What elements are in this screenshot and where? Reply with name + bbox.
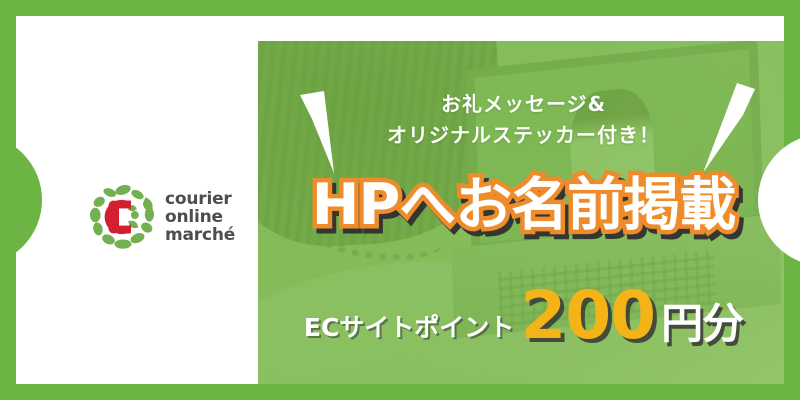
promo-headline: HPへお名前掲載 — [258, 177, 784, 234]
logo-line-online: online — [165, 208, 235, 226]
promo-price-row: ECサイトポイント 200 円分 — [258, 285, 784, 351]
brand-logo[interactable]: courier online marché — [90, 179, 240, 255]
promo-price-unit: 円分 — [661, 290, 743, 351]
promo-price-label: ECサイトポイント — [304, 308, 514, 344]
logo-line-marche: marché — [165, 226, 235, 244]
promo-sub-copy: お礼メッセージ& オリジナルステッカー付き！ — [258, 89, 784, 151]
promo-ticket-card: courier online marché — [0, 0, 800, 400]
courier-online-marche-logo-icon — [90, 184, 156, 250]
promo-sub-copy-line-1: お礼メッセージ& — [441, 92, 606, 116]
promo-sub-copy-line-2: オリジナルステッカー付き！ — [258, 120, 784, 151]
logo-line-courier: courier — [165, 190, 235, 208]
ticket-inner-body: courier online marché — [16, 16, 784, 384]
brand-logo-wordmark: courier online marché — [165, 190, 235, 244]
promo-price-amount: 200 — [520, 285, 655, 348]
promo-copy-stack: お礼メッセージ& オリジナルステッカー付き！ HPへお名前掲載 ECサイトポイン… — [258, 41, 784, 384]
